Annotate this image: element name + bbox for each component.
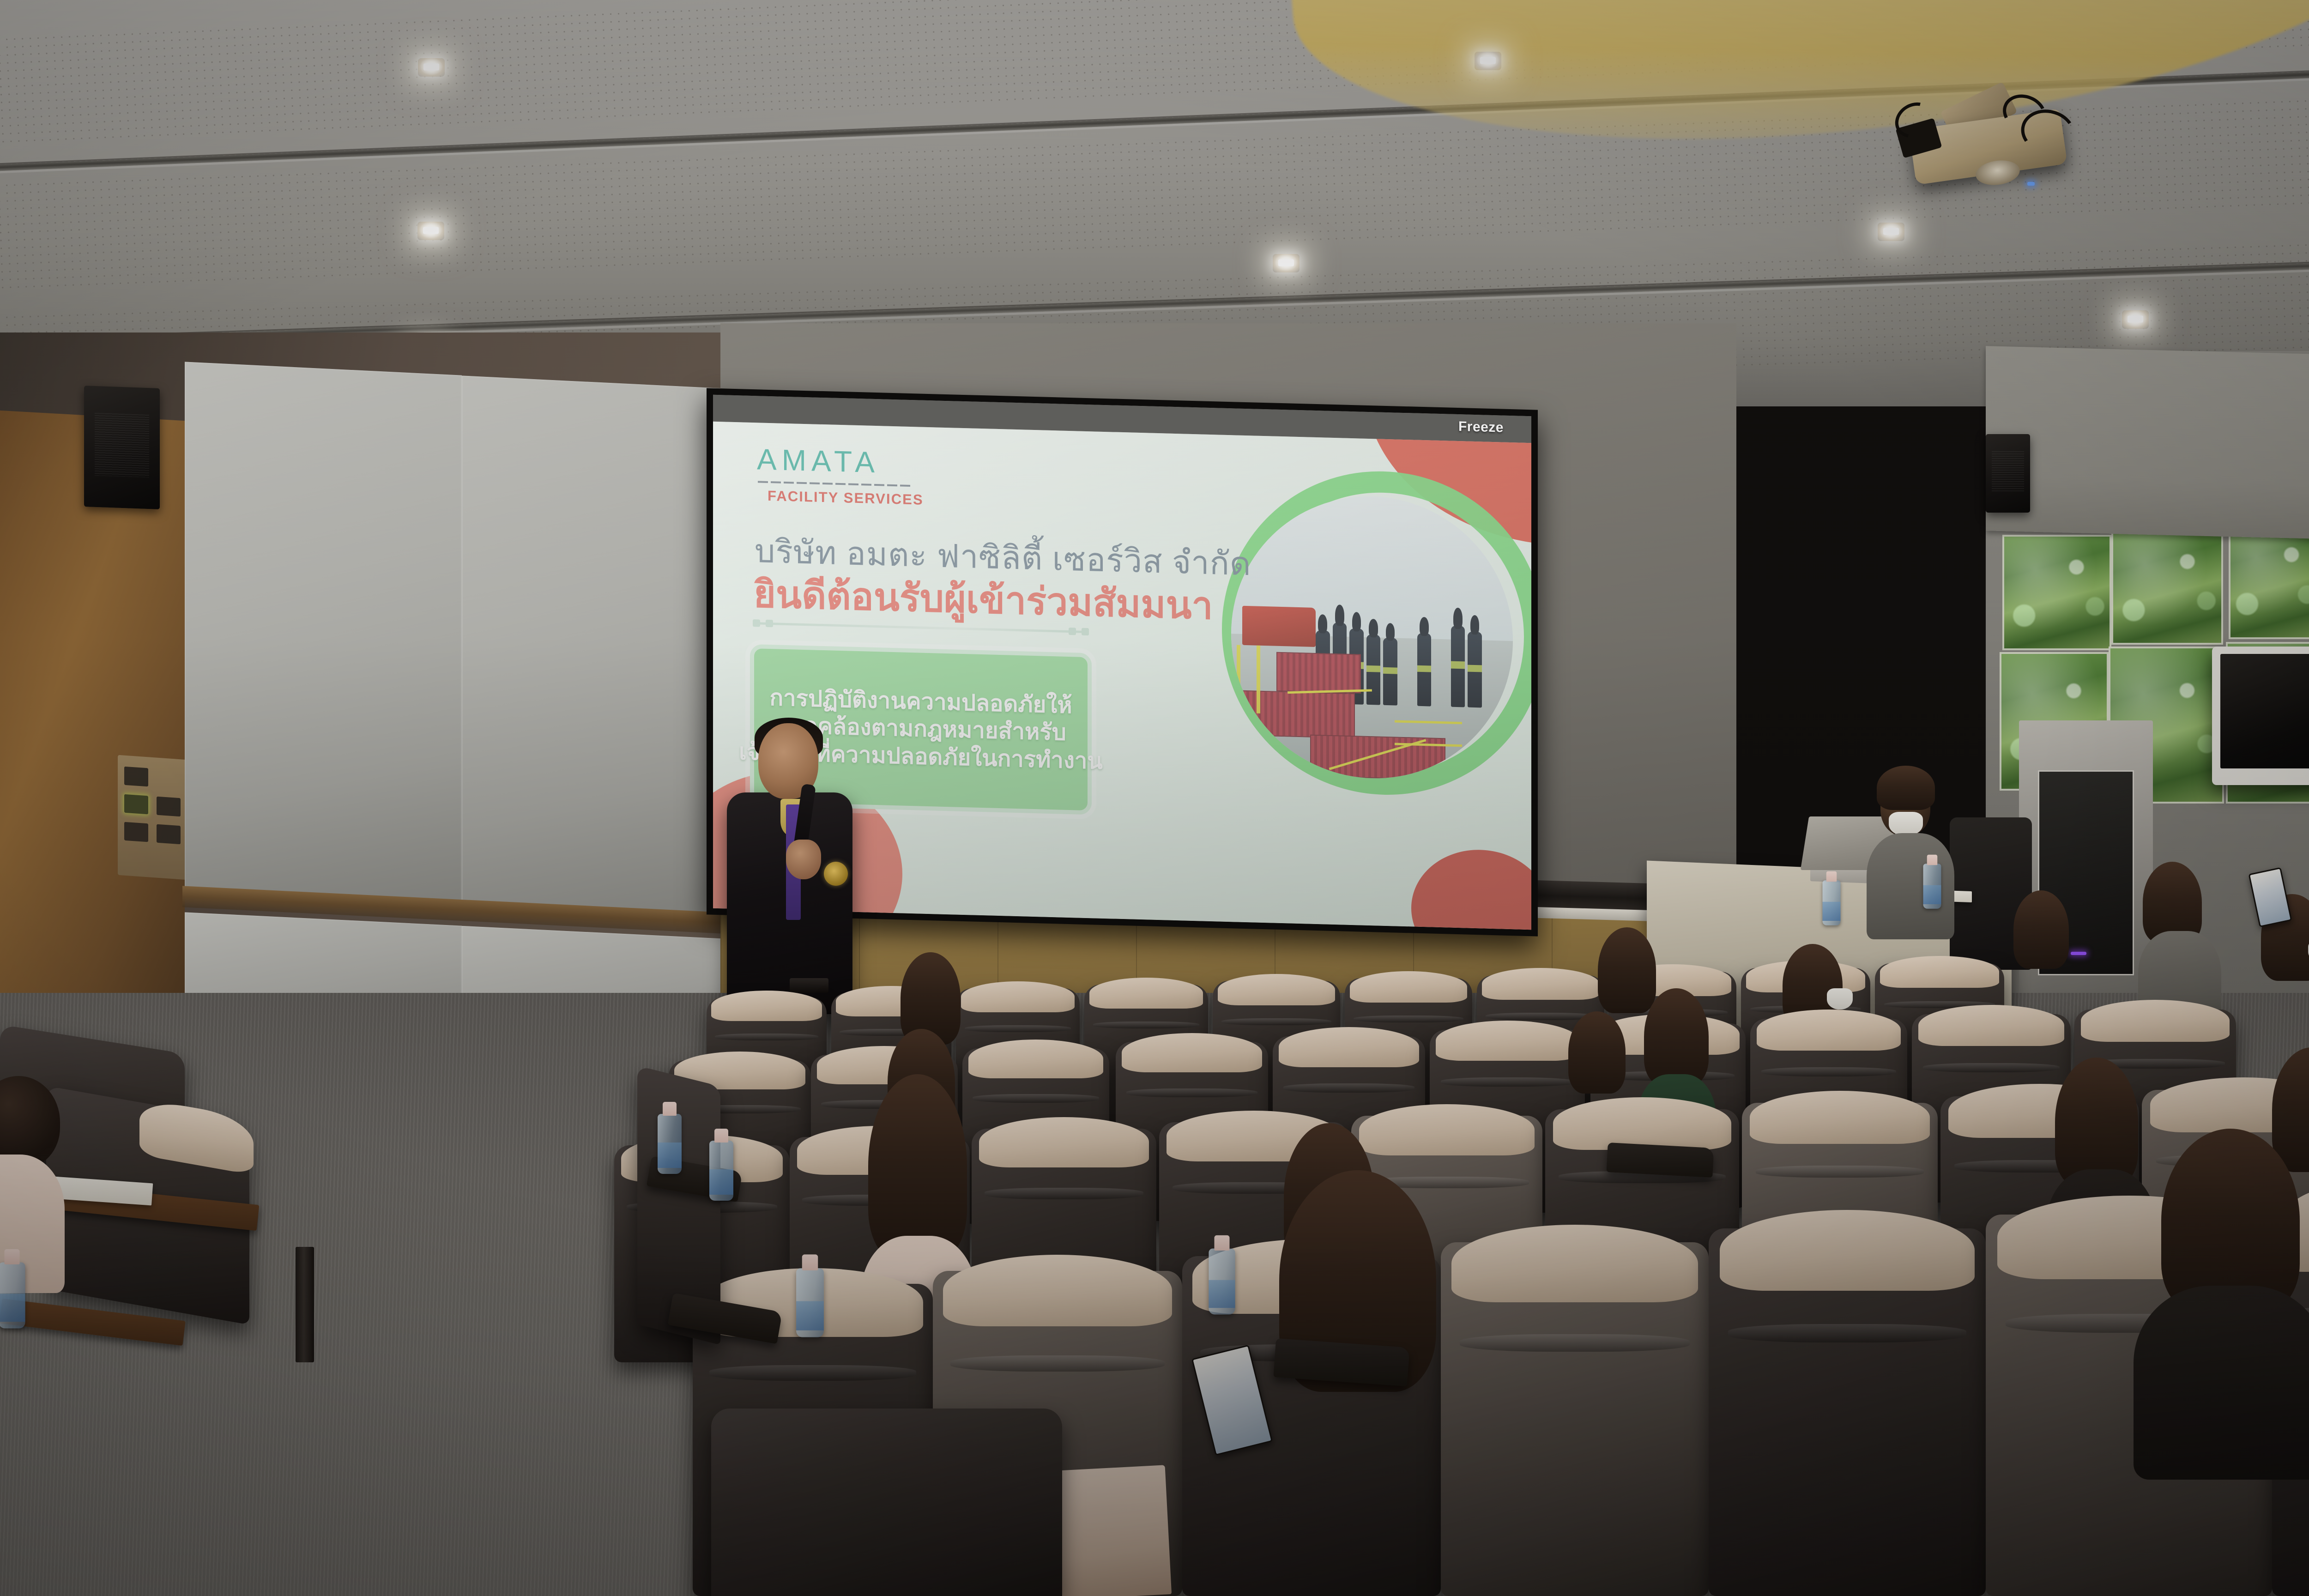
photo-fire-truck [1242, 606, 1316, 647]
water-bottle [1823, 880, 1841, 925]
ceiling-projector [1889, 83, 2092, 203]
slide-decoration-red-corner [1411, 848, 1531, 930]
slide-training-photo [1231, 493, 1513, 782]
roller-blind[interactable] [1986, 346, 2309, 541]
amata-logo-wordmark: AMATA [757, 442, 880, 479]
water-bottle [709, 1141, 733, 1201]
technician-hair [1877, 766, 1935, 810]
photo-firefighter [1417, 633, 1432, 707]
photo-firefighter [1451, 625, 1465, 707]
ceiling-downlight [417, 222, 444, 240]
auditorium-seat[interactable] [1709, 1228, 1986, 1596]
technician-face-mask [1889, 812, 1923, 836]
audience-hair [1568, 1011, 1626, 1094]
ceiling-downlight [1475, 52, 1501, 70]
wall-speaker-right [1986, 434, 2030, 513]
audience-hair [1644, 988, 1709, 1085]
water-bottle [796, 1268, 824, 1337]
amata-logo-rule [758, 481, 913, 487]
projector-power-led [2027, 182, 2035, 186]
technician-torso [1867, 833, 1954, 939]
slide-topic-line-1: การปฏิบัติงานความปลอดภัยให้ [769, 686, 1072, 718]
auditorium-seat[interactable] [1441, 1242, 1709, 1596]
presenter [738, 723, 858, 1028]
water-bottle [1923, 864, 1941, 909]
projector-freeze-indicator: Freeze [1458, 419, 1504, 436]
photo-firefighter [1366, 635, 1381, 705]
window-pane [2229, 522, 2309, 639]
audience-face-mask [1827, 988, 1853, 1010]
presenter-badge [824, 862, 848, 886]
rack-status-led [2071, 952, 2086, 955]
seminar-room-photo: Freeze [0, 0, 2309, 1596]
window-pane [2111, 529, 2223, 645]
ceiling-downlight [2122, 310, 2149, 329]
acoustic-wall-panel [185, 362, 462, 906]
presenter-hand [786, 840, 821, 879]
photo-yellow-stairs [1257, 646, 1260, 713]
window-pane [2002, 535, 2111, 650]
audience-hair [868, 1074, 967, 1259]
ceiling-downlight [1878, 223, 1904, 241]
water-bottle [658, 1114, 682, 1174]
photo-firefighter [1383, 638, 1397, 706]
audience-torso [2134, 1286, 2309, 1480]
acoustic-wall-panel [462, 375, 739, 920]
flat-panel-monitor [2212, 647, 2309, 785]
ceiling-downlight [1273, 254, 1300, 272]
wall-switch-plate[interactable] [118, 755, 187, 880]
auditorium-seat-foreground[interactable] [711, 1409, 1062, 1596]
water-bottle [1209, 1249, 1235, 1315]
av-technician [1864, 768, 1965, 935]
photo-shipping-container [1276, 652, 1361, 693]
photo-firefighter [1468, 631, 1482, 707]
wall-speaker-left [84, 386, 160, 509]
photo-yellow-stairs [1237, 645, 1240, 713]
seat-pedestal [296, 1247, 314, 1362]
amata-logo-subtitle: FACILITY SERVICES [768, 488, 924, 508]
audience-hair [2055, 1058, 2138, 1187]
presenter-belt [790, 978, 828, 993]
audience-hair [1598, 927, 1656, 1013]
audience-hair [2013, 890, 2069, 969]
water-bottle [0, 1263, 25, 1329]
ceiling-downlight [418, 58, 445, 77]
seat-armrest [1606, 1143, 1714, 1178]
